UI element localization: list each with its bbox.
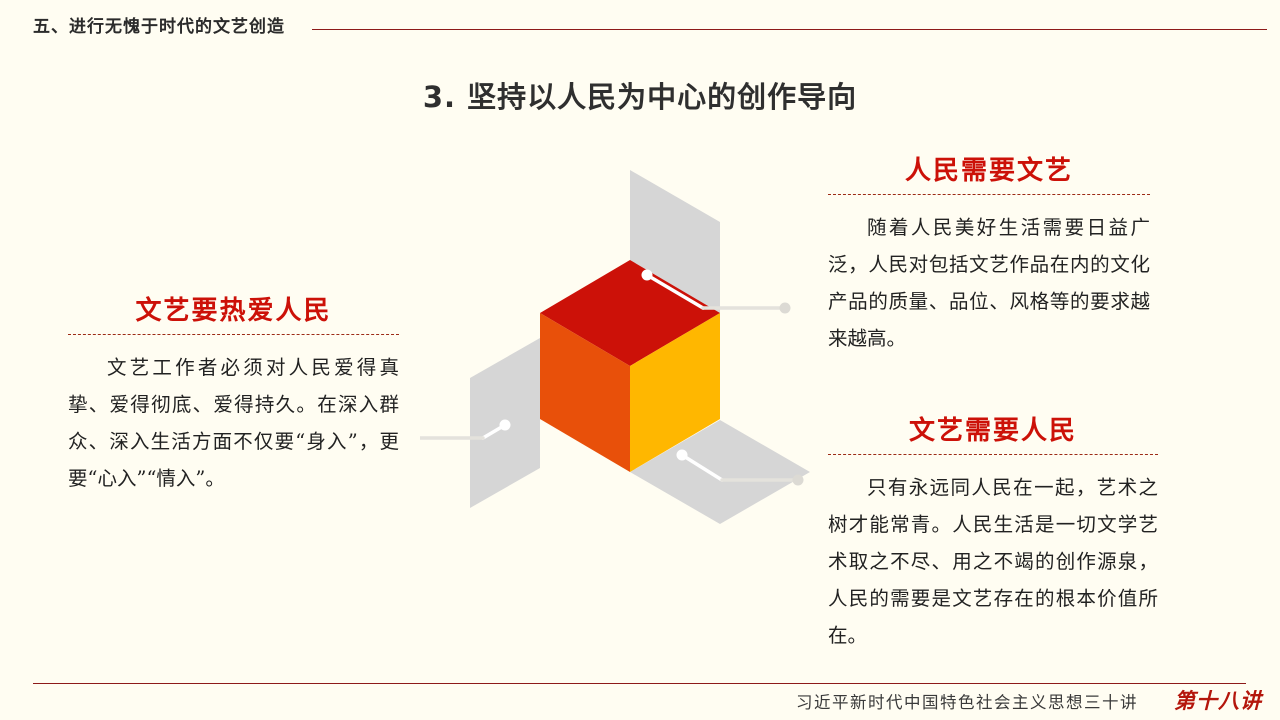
slide-canvas: 五、进行无愧于时代的文艺创造 3. 坚持以人民为中心的创作导向 — [0, 0, 1280, 720]
panel-bottom-right-heading: 文艺需要人民 — [828, 410, 1158, 447]
panel-top-right-heading: 人民需要文艺 — [828, 150, 1150, 187]
header-divider-rule — [312, 29, 1267, 30]
footer-series-title: 习近平新时代中国特色社会主义思想三十讲 — [796, 689, 1138, 713]
slide-footer: 习近平新时代中国特色社会主义思想三十讲 第十八讲 — [0, 688, 1280, 720]
isometric-cube-diagram — [420, 150, 860, 530]
panel-left-divider — [68, 334, 399, 335]
panel-bottom-right-body: 只有永远同人民在一起，艺术之树才能常青。人民生活是一切文学艺术取之不尽、用之不竭… — [828, 469, 1158, 654]
panel-bottom-right-divider — [828, 454, 1158, 455]
panel-bottom-right: 文艺需要人民 只有永远同人民在一起，艺术之树才能常青。人民生活是一切文学艺术取之… — [828, 410, 1158, 654]
panel-top-right: 人民需要文艺 随着人民美好生活需要日益广泛，人民对包括文艺作品在内的文化产品的质… — [828, 150, 1150, 357]
slide-header: 五、进行无愧于时代的文艺创造 — [0, 0, 1280, 52]
panel-left-body: 文艺工作者必须对人民爱得真挚、爱得彻底、爱得持久。在深入群众、深入生活方面不仅要… — [68, 349, 399, 497]
footer-lecture-badge: 第十八讲 — [1174, 685, 1262, 715]
panel-left: 文艺要热爱人民 文艺工作者必须对人民爱得真挚、爱得彻底、爱得持久。在深入群众、深… — [68, 290, 399, 497]
footer-divider-rule — [33, 683, 1246, 684]
page-title: 3. 坚持以人民为中心的创作导向 — [0, 74, 1280, 116]
panel-top-right-divider — [828, 194, 1150, 195]
panel-top-right-body: 随着人民美好生活需要日益广泛，人民对包括文艺作品在内的文化产品的质量、品位、风格… — [828, 209, 1150, 357]
panel-left-heading: 文艺要热爱人民 — [68, 290, 399, 327]
section-label: 五、进行无愧于时代的文艺创造 — [33, 12, 285, 37]
